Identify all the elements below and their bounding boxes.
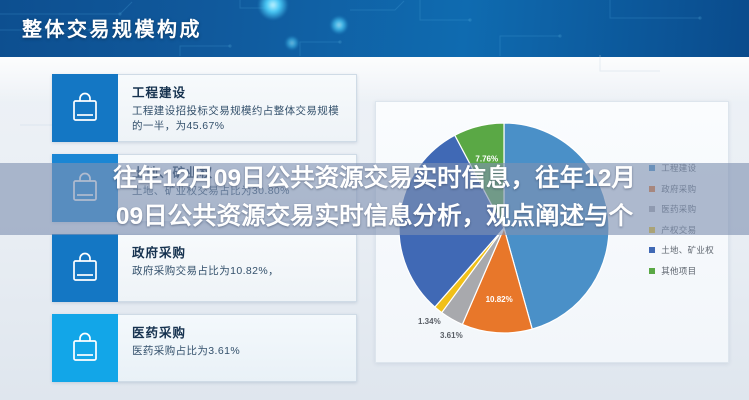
header-glow-light bbox=[330, 16, 348, 34]
legend-item[interactable]: 其他项目 bbox=[649, 265, 714, 277]
shopping-bag-icon bbox=[70, 332, 100, 364]
card-description: 政府采购交易占比为10.82%， bbox=[132, 264, 346, 279]
card-accent-block bbox=[52, 74, 118, 142]
legend-item[interactable]: 土地、矿业权 bbox=[649, 244, 714, 256]
legend-label: 其他项目 bbox=[661, 265, 696, 277]
card-title: 医药采购 bbox=[132, 322, 346, 341]
pie-slice-label: 1.34% bbox=[418, 317, 441, 326]
card-text-body: 政府采购 政府采购交易占比为10.82%， bbox=[118, 234, 357, 302]
pie-slice-label: 10.82% bbox=[486, 295, 513, 304]
card-title: 工程建设 bbox=[132, 82, 346, 101]
caption-overlay-band bbox=[0, 163, 749, 235]
legend-swatch-icon bbox=[649, 247, 655, 253]
card-text-body: 工程建设 工程建设招投标交易规模约占整体交易规模的一半，为45.67% bbox=[118, 74, 357, 142]
legend-label: 土地、矿业权 bbox=[661, 244, 714, 256]
header-glow-light bbox=[285, 36, 299, 50]
page-header-band: 整体交易规模构成 bbox=[0, 0, 749, 57]
card-description: 医药采购占比为3.61% bbox=[132, 344, 346, 359]
card-accent-block bbox=[52, 234, 118, 302]
page-title: 整体交易规模构成 bbox=[22, 13, 202, 42]
shopping-bag-icon bbox=[70, 92, 100, 124]
card-accent-block bbox=[52, 314, 118, 382]
metric-card-engineering[interactable]: 工程建设 工程建设招投标交易规模约占整体交易规模的一半，为45.67% bbox=[52, 74, 357, 142]
card-description: 工程建设招投标交易规模约占整体交易规模的一半，为45.67% bbox=[132, 104, 346, 134]
card-text-body: 医药采购 医药采购占比为3.61% bbox=[118, 314, 357, 382]
metric-card-pharmaceutical-procurement[interactable]: 医药采购 医药采购占比为3.61% bbox=[52, 314, 357, 382]
legend-swatch-icon bbox=[649, 268, 655, 274]
shopping-bag-icon bbox=[70, 252, 100, 284]
pie-slice-label: 3.61% bbox=[440, 331, 463, 340]
card-title: 政府采购 bbox=[132, 242, 346, 261]
metric-card-government-procurement[interactable]: 政府采购 政府采购交易占比为10.82%， bbox=[52, 234, 357, 302]
screenshot-canvas: 整体交易规模构成 工程建设 工程建设招投标交易规模约占整体交易规模的一半，为4 bbox=[0, 0, 749, 400]
